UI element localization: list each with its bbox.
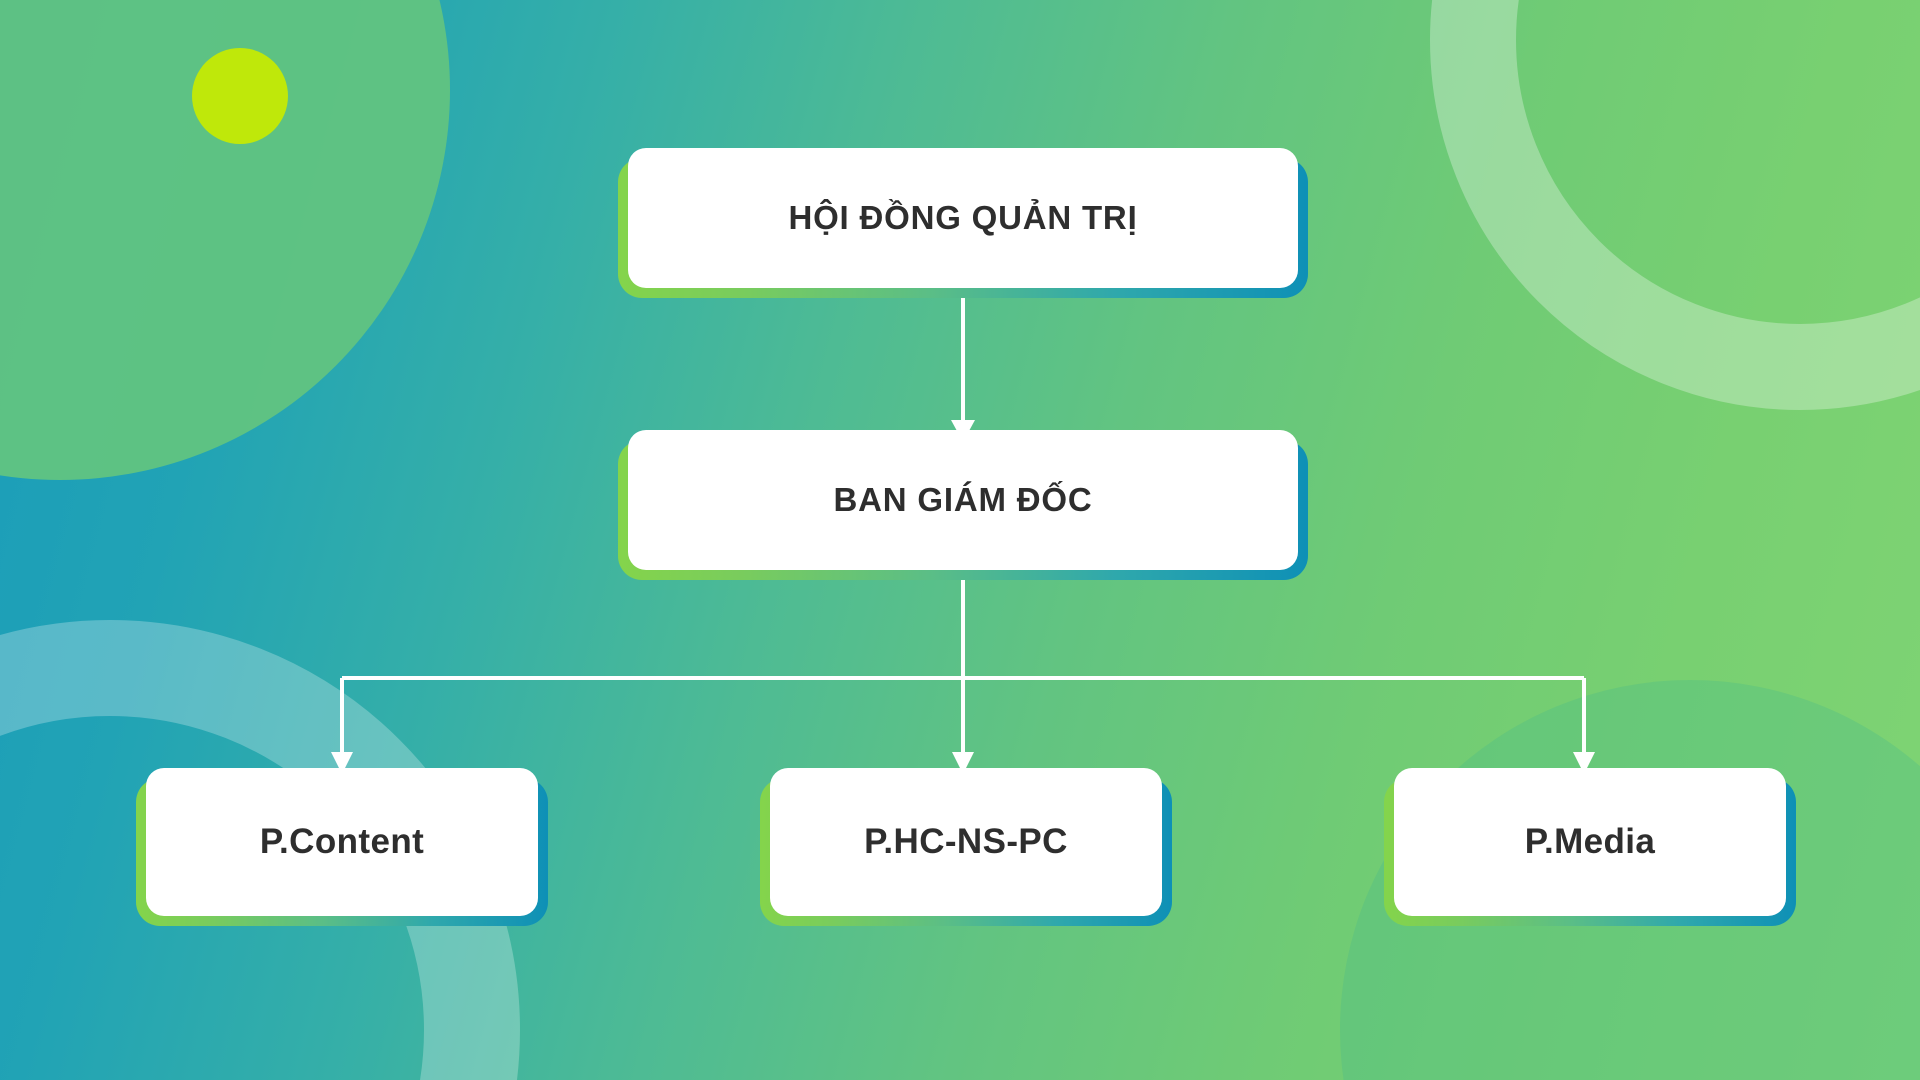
node-hcnspc[interactable]: P.HC-NS-PC — [760, 778, 1172, 926]
node-board-face: HỘI ĐỒNG QUẢN TRỊ — [628, 148, 1298, 288]
node-bod-face: BAN GIÁM ĐỐC — [628, 430, 1298, 570]
node-media[interactable]: P.Media — [1384, 778, 1796, 926]
decorative-dot-lime — [192, 48, 288, 144]
node-content-face: P.Content — [146, 768, 538, 916]
node-board[interactable]: HỘI ĐỒNG QUẢN TRỊ — [618, 158, 1308, 298]
node-media-label: P.Media — [1509, 822, 1672, 862]
node-content[interactable]: P.Content — [136, 778, 548, 926]
node-hcnspc-label: P.HC-NS-PC — [848, 822, 1084, 862]
node-bod[interactable]: BAN GIÁM ĐỐC — [618, 440, 1308, 580]
node-content-label: P.Content — [244, 822, 440, 862]
node-board-label: HỘI ĐỒNG QUẢN TRỊ — [772, 199, 1153, 237]
org-chart-canvas: HỘI ĐỒNG QUẢN TRỊ BAN GIÁM ĐỐC P.Content… — [0, 0, 1920, 1080]
node-media-face: P.Media — [1394, 768, 1786, 916]
node-hcnspc-face: P.HC-NS-PC — [770, 768, 1162, 916]
node-bod-label: BAN GIÁM ĐỐC — [818, 481, 1109, 519]
